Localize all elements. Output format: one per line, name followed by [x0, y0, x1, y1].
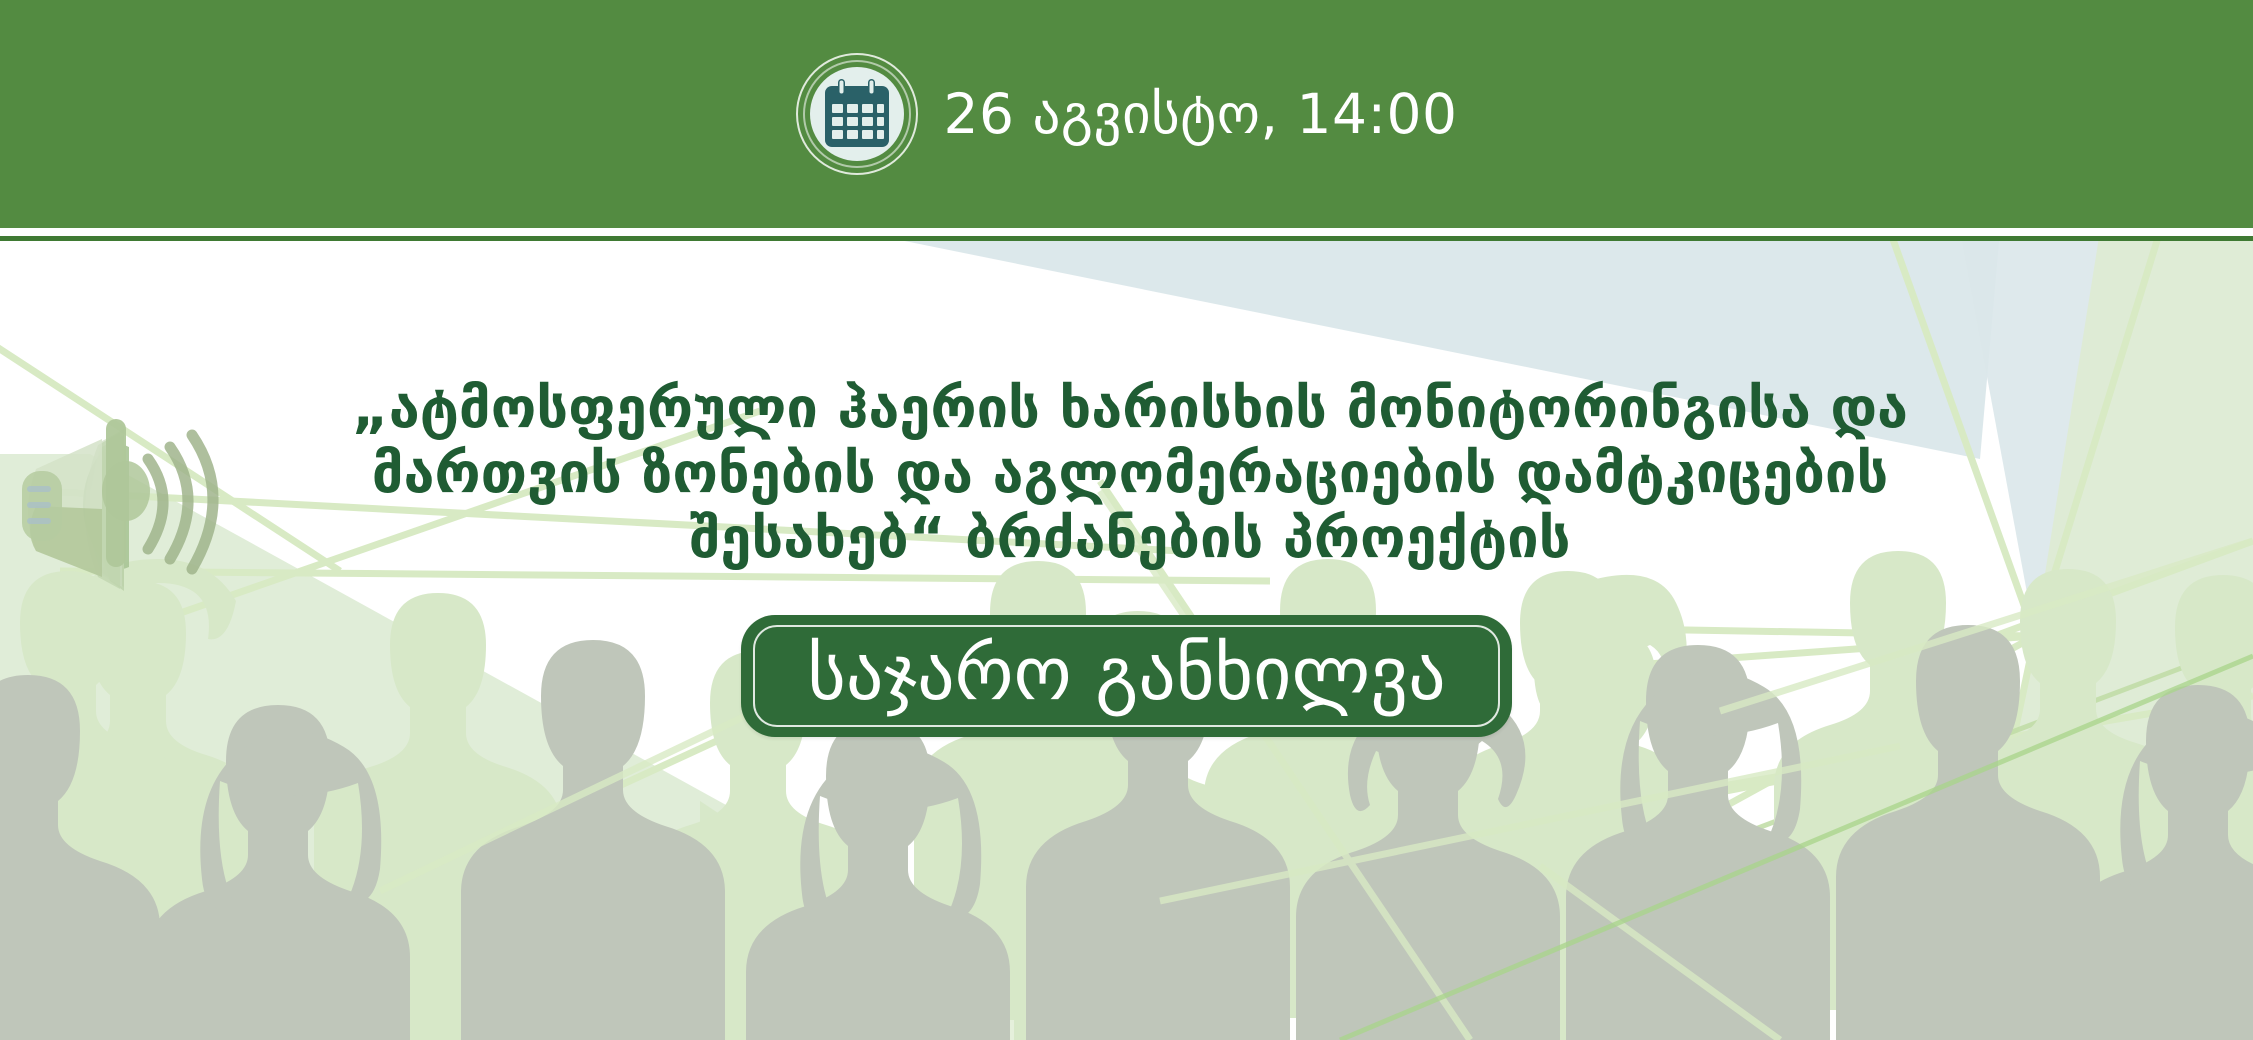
bar-gap	[0, 228, 2253, 236]
bar-divider-rule	[0, 236, 2253, 241]
public-discussion-label: საჯარო განხილვა	[807, 633, 1446, 715]
public-discussion-pill-wrap: საჯარო განხილვა	[0, 615, 2253, 737]
headline-line-2: მართვის ზონების და აგლომერაციების დამტკი…	[300, 441, 1960, 506]
headline-line-3: შესახებ“ ბრძანების პროექტის	[300, 506, 1960, 571]
main-content: „ატმოსფერული ჰაერის ხარისხის მონიტორინგი…	[0, 241, 2253, 1040]
megaphone-icon	[6, 391, 316, 621]
public-discussion-badge: საჯარო განხილვა	[741, 615, 1512, 737]
headline-line-1: „ატმოსფერული ჰაერის ხარისხის მონიტორინგი…	[300, 376, 1960, 441]
event-date-time: 26 აგვისტო, 14:00	[944, 87, 1458, 142]
calendar-icon	[796, 53, 918, 175]
top-date-bar: 26 აგვისტო, 14:00	[0, 0, 2253, 228]
headline-block: „ატმოსფერული ჰაერის ხარისხის მონიტორინგი…	[300, 376, 1960, 571]
calendar-glyph	[825, 79, 889, 149]
event-announcement-banner: 26 აგვისტო, 14:00	[0, 0, 2253, 1040]
